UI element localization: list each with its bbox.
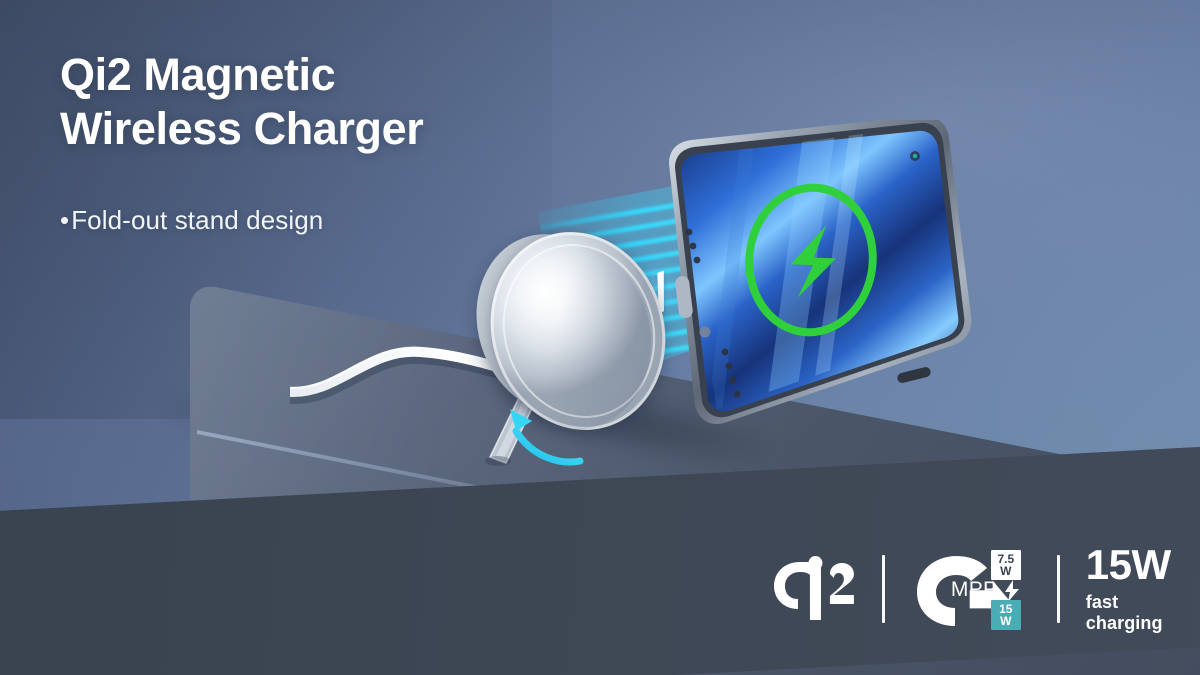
page-title: Qi2 Magnetic Wireless Charger bbox=[60, 48, 580, 155]
headline-line-1: Qi2 Magnetic bbox=[60, 49, 335, 100]
mpp-badge: MPP 7.5 W 15 W bbox=[911, 550, 1031, 628]
certification-badges: MPP 7.5 W 15 W 15W fast charging bbox=[770, 543, 1200, 635]
bullet-text: Fold-out stand design bbox=[71, 205, 323, 236]
lightning-bolt-icon bbox=[1003, 580, 1021, 602]
feature-bullet: • Fold-out stand design bbox=[60, 205, 323, 236]
fast-charging-badge: 15W fast charging bbox=[1086, 544, 1200, 634]
marketing-banner: 15W bbox=[0, 0, 1200, 675]
power-7-5w-unit: W bbox=[1000, 565, 1011, 577]
badge-divider-2 bbox=[1057, 555, 1060, 623]
power-15w-unit: W bbox=[1000, 615, 1011, 627]
smartphone bbox=[625, 120, 985, 450]
qi2-logo-icon bbox=[770, 554, 856, 624]
fast-charging-caption: fast charging bbox=[1086, 592, 1200, 634]
power-badge-15w: 15 W bbox=[991, 600, 1021, 630]
bullet-marker: • bbox=[60, 205, 69, 236]
mpp-label: MPP bbox=[951, 578, 997, 602]
curved-arrow-icon bbox=[476, 365, 606, 475]
headline-line-2: Wireless Charger bbox=[60, 102, 580, 156]
fast-charging-value: 15W bbox=[1086, 544, 1200, 586]
power-badge-7-5w: 7.5 W bbox=[991, 550, 1021, 580]
badge-divider-1 bbox=[882, 555, 885, 623]
